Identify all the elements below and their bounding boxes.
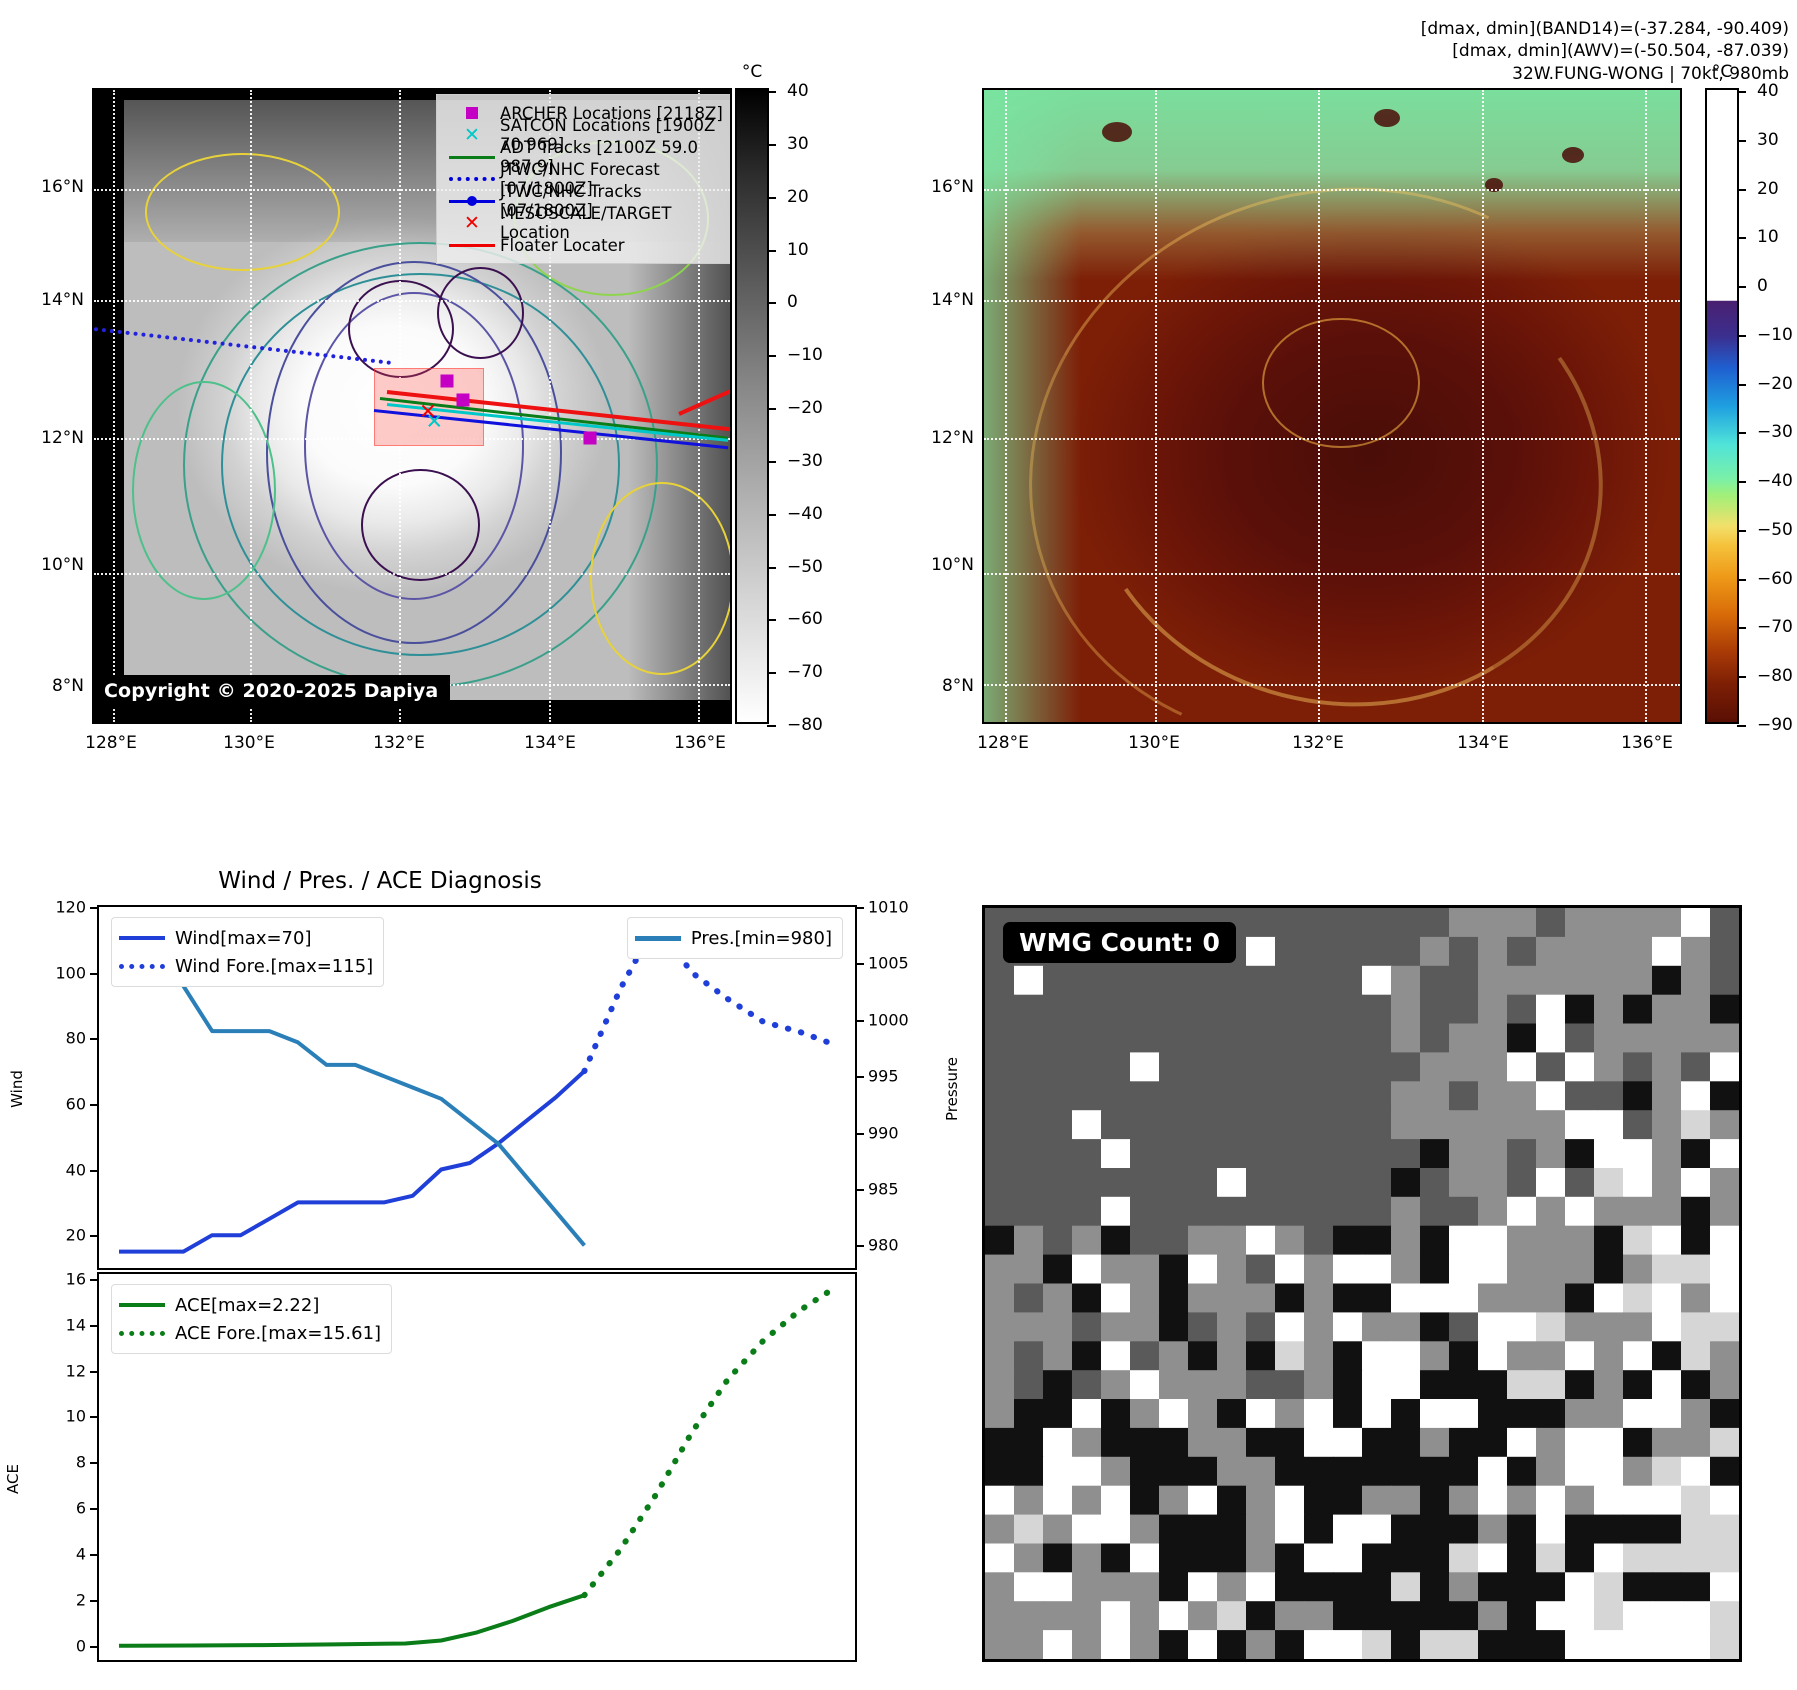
wmg-cell <box>1710 1370 1739 1400</box>
wmg-cell <box>1072 1110 1102 1140</box>
wmg-cell <box>1391 1486 1421 1516</box>
wmg-cell <box>1304 1630 1334 1659</box>
map-gridline <box>1155 90 1157 722</box>
wmg-cell <box>1188 1601 1218 1631</box>
wmg-cell <box>1594 1110 1624 1140</box>
wmg-cell <box>1217 1399 1247 1429</box>
wmg-cell <box>1304 1572 1334 1602</box>
wmg-cell <box>1449 1515 1479 1545</box>
wmg-cell <box>1507 1226 1537 1256</box>
wmg-cell <box>1014 1544 1044 1574</box>
wmg-cell <box>1652 1081 1682 1111</box>
wmg-cell <box>1623 1024 1653 1054</box>
wmg-cell <box>1188 1399 1218 1429</box>
wmg-cell <box>1101 1226 1131 1256</box>
wmg-cell <box>1623 1486 1653 1516</box>
colorbar-tick-label: −80 <box>787 715 823 735</box>
wmg-cell <box>1101 1515 1131 1545</box>
wmg-cell <box>1420 966 1450 996</box>
wmg-cell <box>1159 1341 1189 1371</box>
wmg-cell <box>985 1110 1015 1140</box>
wmg-cell <box>1681 966 1711 996</box>
wmg-cell <box>1188 1197 1218 1227</box>
axis-tick-label: 40 <box>66 1160 86 1179</box>
wmg-cell <box>1101 1486 1131 1516</box>
wmg-cell <box>1536 1081 1566 1111</box>
wmg-cell <box>1391 1081 1421 1111</box>
wmg-cell <box>1391 1341 1421 1371</box>
colorbar-tick-label: 0 <box>1757 276 1768 296</box>
lat-tick-label: 10°N <box>20 555 84 575</box>
wmg-cell <box>1710 1630 1739 1659</box>
wmg-cell <box>1507 1284 1537 1314</box>
wmg-cell <box>1159 1486 1189 1516</box>
wmg-cell <box>1246 1110 1276 1140</box>
wmg-cell <box>1681 1457 1711 1487</box>
wmg-cell <box>1304 1544 1334 1574</box>
wmg-cell <box>1304 1457 1334 1487</box>
copyright-text: Copyright © 2020-2025 Dapiya <box>104 680 438 702</box>
lat-tick-label: 8°N <box>910 676 974 696</box>
wmg-cell <box>1507 1630 1537 1659</box>
wmg-cell <box>1130 1399 1160 1429</box>
dmax-dmin-awv: [dmax, dmin](AWV)=(-50.504, -87.039) <box>1421 40 1789 62</box>
wmg-cell <box>1304 1601 1334 1631</box>
axis-tick-label: 80 <box>66 1029 86 1048</box>
axis-tick-label: 20 <box>66 1226 86 1245</box>
wmg-cell <box>1391 1370 1421 1400</box>
wmg-cell <box>1217 1312 1247 1342</box>
wind-pressure-plot[interactable]: Wind[max=70] Wind Fore.[max=115] Pres.[m… <box>97 905 857 1270</box>
wmg-cell <box>1130 1370 1160 1400</box>
ir-colorbar: 403020100−10−20−30−40−50−60−70−80 <box>735 88 769 724</box>
wmg-cell <box>1478 995 1508 1024</box>
lon-tick-label: 134°E <box>524 733 576 753</box>
wmg-cell <box>1362 1168 1392 1198</box>
axis-tick <box>90 1235 99 1237</box>
legend-item: ✕ MESOSCALE/TARGET Location <box>444 212 732 234</box>
wmg-cell <box>1391 908 1421 938</box>
wmg-cell <box>1101 1601 1131 1631</box>
ir-edge-left <box>94 90 124 722</box>
wmg-cell <box>985 1457 1015 1487</box>
wmg-cell <box>1159 1052 1189 1082</box>
wmg-cell <box>1362 1024 1392 1054</box>
diagnosis-chart-title: Wind / Pres. / ACE Diagnosis <box>218 868 541 894</box>
wmg-cell <box>1362 1052 1392 1082</box>
wmg-cell <box>1594 1457 1624 1487</box>
wmg-cell <box>1507 937 1537 967</box>
wmg-cell <box>1391 1197 1421 1227</box>
wmg-cell <box>1188 1341 1218 1371</box>
wmg-cell <box>1304 1312 1334 1342</box>
wmg-cell <box>1652 1370 1682 1400</box>
wmg-cell <box>1536 1110 1566 1140</box>
wmg-cell <box>1275 1341 1305 1371</box>
wmg-cell <box>1188 1544 1218 1574</box>
wmg-cell <box>1507 1428 1537 1458</box>
ir-satellite-map[interactable]: ✕ ✕ ARCHER Locations [2118Z] ✕ SATCON Lo… <box>92 88 732 724</box>
colorbar-tick-label: 0 <box>787 292 798 312</box>
wmg-cell <box>1391 1572 1421 1602</box>
wmg-cell <box>1101 1024 1131 1054</box>
wmg-cell <box>1623 1399 1653 1429</box>
colorbar-tick-label: 10 <box>1757 227 1779 247</box>
wmg-cell <box>1304 1486 1334 1516</box>
wmg-cell <box>1420 937 1450 967</box>
wmg-cell <box>1710 1399 1739 1429</box>
wmg-cell <box>1420 1630 1450 1659</box>
wmg-cell <box>1101 1544 1131 1574</box>
wmg-cell <box>1304 908 1334 938</box>
storm-summary: 32W.FUNG-WONG | 70kt, 980mb <box>1421 63 1789 85</box>
wmg-cell <box>1420 995 1450 1024</box>
wmg-cell <box>1014 1341 1044 1371</box>
wmg-cell <box>1275 1197 1305 1227</box>
axis-tick <box>90 1508 99 1510</box>
colorbar-tick-label: −80 <box>1757 666 1793 686</box>
wmg-cell <box>1275 1428 1305 1458</box>
colorbar-tick <box>767 672 776 674</box>
wmg-cell <box>1681 1399 1711 1429</box>
wmg-cell <box>1043 1139 1073 1169</box>
wmg-cell <box>1536 937 1566 967</box>
wmg-cell <box>1130 1139 1160 1169</box>
lon-tick-label: 132°E <box>373 733 425 753</box>
wmg-cell <box>1043 1457 1073 1487</box>
wmg-cell <box>1333 1024 1363 1054</box>
wmg-cell <box>1014 1197 1044 1227</box>
wmg-cell <box>1188 1428 1218 1458</box>
wmg-cell <box>1130 1284 1160 1314</box>
wmg-cell <box>1043 1601 1073 1631</box>
wmg-cell <box>1681 937 1711 967</box>
wmg-cell <box>1043 1168 1073 1198</box>
wmg-cell <box>1043 1024 1073 1054</box>
wmg-cell <box>1043 1428 1073 1458</box>
wmg-cell <box>1246 1312 1276 1342</box>
wmg-cell <box>1188 1630 1218 1659</box>
wmg-cell <box>1478 1168 1508 1198</box>
wmg-cell <box>1072 1457 1102 1487</box>
wmg-cell <box>1536 1572 1566 1602</box>
wmg-cell <box>1710 1341 1739 1371</box>
wmg-cell <box>1072 1312 1102 1342</box>
wmg-cell <box>1130 1110 1160 1140</box>
wmg-cell <box>1420 1457 1450 1487</box>
wmg-cell <box>1478 1428 1508 1458</box>
wmg-cell <box>1710 1197 1739 1227</box>
map-gridline <box>94 300 730 302</box>
wmg-cell <box>1246 1284 1276 1314</box>
lat-tick-label: 16°N <box>910 177 974 197</box>
wmg-cell <box>1159 1399 1189 1429</box>
wmg-cell <box>1246 1486 1276 1516</box>
wmg-cell <box>1710 1572 1739 1602</box>
wmg-cell <box>1652 1515 1682 1545</box>
wmg-cell <box>1710 1457 1739 1487</box>
colorbar-tick-label: −50 <box>1757 520 1793 540</box>
wmg-cell <box>1014 1630 1044 1659</box>
axis-tick-label: 4 <box>76 1545 86 1564</box>
wmg-cell <box>1478 1515 1508 1545</box>
wmg-cell <box>1043 1197 1073 1227</box>
wmg-cell <box>1565 1052 1595 1082</box>
wmg-cell <box>1362 1226 1392 1256</box>
legend-item: Wind[max=70] <box>119 924 373 952</box>
wmg-cell <box>1043 1486 1073 1516</box>
wmg-cell <box>1391 1428 1421 1458</box>
wmg-count-badge: WMG Count: 0 <box>1003 922 1236 963</box>
wmg-cell <box>1362 1630 1392 1659</box>
wmg-cell <box>985 1370 1015 1400</box>
wmg-cell <box>1217 1226 1247 1256</box>
colorbar-tick <box>1737 189 1746 191</box>
wmg-cell <box>1536 1197 1566 1227</box>
wmg-cell <box>1710 1601 1739 1631</box>
wmg-cell <box>1275 1399 1305 1429</box>
wmg-cell <box>1333 1572 1363 1602</box>
wmg-cell <box>1391 1630 1421 1659</box>
wmg-cell <box>1623 1110 1653 1140</box>
wmg-cell <box>1014 1052 1044 1082</box>
wmg-cell <box>1536 1370 1566 1400</box>
wmg-cell <box>1391 995 1421 1024</box>
archer-location-marker <box>584 431 597 444</box>
ace-axis-label: ACE <box>4 1464 22 1494</box>
wmg-cell <box>1072 1601 1102 1631</box>
wmg-cell <box>1478 1197 1508 1227</box>
wmg-cell <box>1652 1630 1682 1659</box>
lat-tick-label: 10°N <box>910 555 974 575</box>
wmg-panel[interactable]: WMG Count: 0 <box>982 905 1742 1662</box>
lon-tick-label: 130°E <box>1128 733 1180 753</box>
wmg-cell <box>1536 1284 1566 1314</box>
wmg-cell <box>1333 1630 1363 1659</box>
wmg-cell <box>1362 1197 1392 1227</box>
wmg-cell <box>1536 1544 1566 1574</box>
wmg-cell <box>1014 1572 1044 1602</box>
wmg-cell <box>1478 1486 1508 1516</box>
wmg-cell <box>1681 1197 1711 1227</box>
axis-tick <box>855 963 864 965</box>
wmg-cell <box>1710 1312 1739 1342</box>
wmg-cell <box>1333 1370 1363 1400</box>
wmg-cell <box>1188 1139 1218 1169</box>
axis-tick-label: 985 <box>868 1180 899 1199</box>
wmg-cell <box>1681 1370 1711 1400</box>
wmg-cell <box>1101 1284 1131 1314</box>
wmg-cell <box>1391 1544 1421 1574</box>
wmg-cell <box>985 1486 1015 1516</box>
wmg-cell <box>1072 1572 1102 1602</box>
wmg-cell <box>1188 1457 1218 1487</box>
wmg-cell <box>1101 1572 1131 1602</box>
wmg-cell <box>1594 966 1624 996</box>
wmg-cell <box>1710 1168 1739 1198</box>
wmg-cell <box>1652 1428 1682 1458</box>
wmg-cell <box>985 1052 1015 1082</box>
wmg-cell <box>1478 1312 1508 1342</box>
wmg-cell <box>1130 1168 1160 1198</box>
wmg-cell <box>1449 1110 1479 1140</box>
wmg-cell <box>1014 1457 1044 1487</box>
axis-tick <box>90 1170 99 1172</box>
wmg-cell <box>1623 1601 1653 1631</box>
wmg-cell <box>1623 1168 1653 1198</box>
wmg-cell <box>1130 1544 1160 1574</box>
colorbar-tick <box>1737 91 1746 93</box>
colorbar-unit-left: °C <box>742 62 762 82</box>
wmg-cell <box>1246 1457 1276 1487</box>
wmg-cell <box>1594 908 1624 938</box>
wmg-cell <box>1130 1428 1160 1458</box>
wmg-cell <box>1072 1226 1102 1256</box>
wmg-cell <box>1391 1226 1421 1256</box>
colorbar-tick-label: −30 <box>1757 422 1793 442</box>
wmg-cell <box>1449 937 1479 967</box>
wmg-cell <box>1507 1601 1537 1631</box>
wmg-cell <box>1362 908 1392 938</box>
wmg-cell <box>1304 937 1334 967</box>
wmg-cell <box>1333 1486 1363 1516</box>
wmg-cell <box>1420 1024 1450 1054</box>
wmg-cell <box>1681 1312 1711 1342</box>
wmg-cell <box>1333 1081 1363 1111</box>
wmg-cell <box>1449 1284 1479 1314</box>
wmg-cell <box>1507 1024 1537 1054</box>
axis-tick-label: 1005 <box>868 954 909 973</box>
legend-item: Pres.[min=980] <box>635 924 832 952</box>
wmg-cell <box>1420 1515 1450 1545</box>
wmg-cell <box>1333 1197 1363 1227</box>
wmg-cell <box>1333 1284 1363 1314</box>
wmg-cell <box>1681 1110 1711 1140</box>
lat-tick-label: 12°N <box>20 428 84 448</box>
wmg-cell <box>1275 1486 1305 1516</box>
wmg-cell <box>1449 1486 1479 1516</box>
wmg-cell <box>1217 995 1247 1024</box>
wmg-cell <box>1159 1081 1189 1111</box>
wmg-cell <box>1014 1255 1044 1285</box>
axis-tick-label: 1000 <box>868 1010 909 1029</box>
wmg-cell <box>1275 1081 1305 1111</box>
colorbar-tick-label: −10 <box>1757 325 1793 345</box>
wmg-cell <box>1043 995 1073 1024</box>
wmg-cell <box>1536 1255 1566 1285</box>
wmg-cell <box>1507 1255 1537 1285</box>
wmg-cell <box>1478 1139 1508 1169</box>
wmg-cell <box>1130 1630 1160 1659</box>
wmg-cell <box>1246 1081 1276 1111</box>
wmg-cell <box>1072 1544 1102 1574</box>
wmg-cell <box>1565 1601 1595 1631</box>
wmg-cell <box>1652 1486 1682 1516</box>
wmg-cell <box>1362 1572 1392 1602</box>
wmg-cell <box>1623 1226 1653 1256</box>
wmg-cell <box>1681 995 1711 1024</box>
wmg-cell <box>1217 1024 1247 1054</box>
axis-tick-label: 2 <box>76 1591 86 1610</box>
axis-tick-label: 14 <box>66 1315 86 1334</box>
colorbar-unit-right: °C <box>1712 62 1732 82</box>
wmg-cell <box>1072 1515 1102 1545</box>
wmg-cell <box>1449 1399 1479 1429</box>
axis-tick-label: 990 <box>868 1123 899 1142</box>
wmg-cell <box>1275 1024 1305 1054</box>
wmg-cell <box>1275 1226 1305 1256</box>
wmg-cell <box>1623 1052 1653 1082</box>
wmg-cell <box>1681 1428 1711 1458</box>
wmg-cell <box>1420 1428 1450 1458</box>
wmg-cell <box>1159 1284 1189 1314</box>
wmg-cell <box>1246 1630 1276 1659</box>
wmg-cell <box>1072 1370 1102 1400</box>
wmg-cell <box>1101 995 1131 1024</box>
wmg-cell <box>1478 1081 1508 1111</box>
wmg-cell <box>1478 937 1508 967</box>
wmg-cell <box>1507 1370 1537 1400</box>
wmg-cell <box>1536 1457 1566 1487</box>
wmg-cell <box>1623 1370 1653 1400</box>
awv-satellite-map[interactable] <box>982 88 1682 724</box>
wmg-cell <box>1304 1081 1334 1111</box>
wmg-cell <box>1449 1601 1479 1631</box>
wmg-cell <box>1565 1024 1595 1054</box>
wmg-cell <box>1246 1139 1276 1169</box>
wmg-cell <box>1652 995 1682 1024</box>
wmg-cell <box>1014 966 1044 996</box>
wmg-cell <box>1159 1024 1189 1054</box>
wmg-cell <box>1565 1110 1595 1140</box>
wmg-cell <box>1246 1572 1276 1602</box>
ace-plot[interactable]: ACE[max=2.22] ACE Fore.[max=15.61] 02468… <box>97 1272 857 1662</box>
wmg-cell <box>1594 1630 1624 1659</box>
map-gridline <box>984 573 1680 575</box>
wmg-cell <box>1565 1428 1595 1458</box>
colorbar-tick <box>767 91 776 93</box>
map-legend: ARCHER Locations [2118Z] ✕ SATCON Locati… <box>436 94 732 264</box>
wmg-cell <box>1391 1024 1421 1054</box>
wmg-cell <box>1217 1081 1247 1111</box>
wmg-cell <box>1275 1601 1305 1631</box>
wmg-cell <box>1623 1312 1653 1342</box>
wmg-cell <box>1536 1226 1566 1256</box>
wmg-cell <box>1246 1226 1276 1256</box>
contour-ring <box>348 280 454 379</box>
wmg-cell <box>1159 1139 1189 1169</box>
axis-tick-label: 16 <box>66 1269 86 1288</box>
wmg-cell <box>985 1284 1015 1314</box>
wmg-cell <box>1681 1486 1711 1516</box>
wmg-cell <box>1710 1110 1739 1140</box>
wmg-cell <box>1043 966 1073 996</box>
awv-cold-cell <box>1562 147 1584 163</box>
wmg-cell <box>1188 1284 1218 1314</box>
wmg-cell <box>1623 1428 1653 1458</box>
wmg-cell <box>1304 1052 1334 1082</box>
wmg-cell <box>1594 1255 1624 1285</box>
wmg-cell <box>1333 1341 1363 1371</box>
map-gridline <box>1318 90 1320 722</box>
wmg-cell <box>1130 1572 1160 1602</box>
wmg-cell <box>1710 908 1739 938</box>
wmg-cell <box>1623 1197 1653 1227</box>
wmg-cell <box>1652 966 1682 996</box>
wmg-cell <box>1275 937 1305 967</box>
axis-tick-label: 120 <box>55 898 86 917</box>
wmg-cell <box>1536 1428 1566 1458</box>
